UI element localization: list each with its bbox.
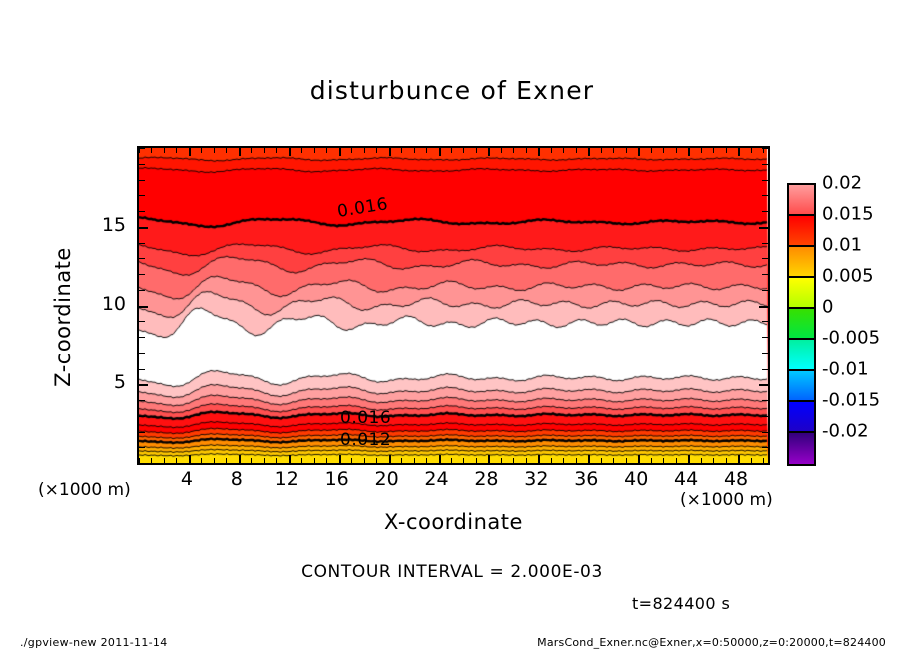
colorbar-label-0: 0.02 bbox=[822, 173, 862, 194]
x-tick bbox=[289, 148, 291, 156]
x-tick bbox=[563, 458, 564, 463]
x-tick bbox=[601, 148, 602, 153]
x-tick-label: 16 bbox=[325, 468, 349, 490]
x-tick bbox=[301, 148, 302, 153]
x-axis-title: X-coordinate bbox=[137, 510, 770, 534]
y-tick bbox=[762, 447, 768, 448]
colorbar-label-7: -0.015 bbox=[822, 390, 880, 411]
y-tick bbox=[762, 400, 768, 401]
x-tick bbox=[476, 458, 477, 463]
x-tick bbox=[439, 148, 441, 156]
x-tick bbox=[251, 458, 252, 463]
x-tick-label: 48 bbox=[724, 468, 748, 490]
y-tick bbox=[762, 274, 768, 275]
x-units-left: (×1000 m) bbox=[38, 480, 131, 500]
x-tick-label: 40 bbox=[624, 468, 648, 490]
colorbar-label-8: -0.02 bbox=[822, 421, 869, 442]
y-tick bbox=[139, 463, 145, 464]
x-tick bbox=[501, 148, 502, 153]
x-tick bbox=[239, 455, 241, 463]
x-tick bbox=[251, 148, 252, 153]
y-tick bbox=[139, 148, 145, 149]
footer-source: MarsCond_Exner.nc@Exner,x=0:50000,z=0:20… bbox=[537, 636, 886, 649]
x-tick bbox=[176, 148, 177, 153]
colorbar-label-2: 0.01 bbox=[822, 235, 862, 256]
x-tick bbox=[488, 455, 490, 463]
y-tick bbox=[139, 400, 145, 401]
x-tick bbox=[301, 458, 302, 463]
x-tick bbox=[688, 455, 690, 463]
x-tick bbox=[239, 148, 241, 156]
colorbar-band-7 bbox=[789, 402, 814, 433]
x-tick bbox=[551, 148, 552, 153]
x-tick bbox=[164, 458, 165, 463]
x-tick bbox=[638, 455, 640, 463]
x-tick bbox=[513, 148, 514, 153]
x-tick bbox=[289, 455, 291, 463]
colorbar bbox=[787, 183, 816, 466]
x-tick bbox=[439, 455, 441, 463]
x-tick bbox=[401, 458, 402, 463]
x-tick bbox=[376, 458, 377, 463]
x-tick bbox=[751, 148, 752, 153]
x-tick bbox=[151, 458, 152, 463]
y-tick bbox=[762, 369, 768, 370]
y-tick bbox=[139, 211, 145, 212]
y-tick bbox=[762, 148, 768, 149]
y-tick bbox=[139, 243, 145, 244]
x-tick bbox=[339, 148, 341, 156]
x-tick bbox=[326, 148, 327, 153]
y-tick bbox=[762, 211, 768, 212]
contour-label-mid: 0.016 bbox=[340, 408, 391, 428]
x-tick bbox=[726, 458, 727, 463]
x-tick bbox=[276, 458, 277, 463]
y-tick bbox=[762, 321, 768, 322]
x-tick bbox=[376, 148, 377, 153]
x-tick bbox=[426, 148, 427, 153]
x-tick bbox=[726, 148, 727, 153]
y-tick bbox=[139, 164, 145, 165]
x-tick bbox=[713, 458, 714, 463]
x-tick bbox=[389, 148, 391, 156]
y-tick bbox=[759, 227, 768, 229]
y-tick bbox=[139, 274, 145, 275]
x-tick bbox=[226, 458, 227, 463]
x-tick bbox=[626, 148, 627, 153]
x-tick bbox=[601, 458, 602, 463]
x-tick bbox=[351, 148, 352, 153]
y-tick bbox=[139, 195, 145, 196]
x-tick bbox=[276, 148, 277, 153]
x-tick bbox=[651, 458, 652, 463]
time-label: t=824400 s bbox=[632, 594, 730, 613]
x-tick bbox=[463, 458, 464, 463]
y-tick bbox=[139, 432, 145, 433]
contour-plot-frame bbox=[137, 146, 770, 465]
y-tick bbox=[762, 463, 768, 464]
colorbar-band-3 bbox=[789, 278, 814, 309]
x-tick bbox=[414, 148, 415, 153]
x-tick bbox=[526, 148, 527, 153]
y-tick bbox=[139, 258, 145, 259]
x-tick-label: 4 bbox=[181, 468, 193, 490]
y-tick bbox=[759, 306, 768, 308]
x-tick bbox=[701, 458, 702, 463]
y-tick bbox=[762, 164, 768, 165]
y-axis-title: Z-coordinate bbox=[51, 217, 75, 417]
x-tick bbox=[314, 458, 315, 463]
x-tick bbox=[214, 148, 215, 153]
x-tick bbox=[701, 148, 702, 153]
x-tick bbox=[264, 458, 265, 463]
y-tick bbox=[762, 353, 768, 354]
x-tick-label: 32 bbox=[524, 468, 548, 490]
colorbar-band-1 bbox=[789, 216, 814, 247]
x-tick bbox=[488, 148, 490, 156]
x-tick bbox=[189, 148, 191, 156]
x-tick bbox=[751, 458, 752, 463]
colorbar-label-6: -0.01 bbox=[822, 359, 869, 380]
x-tick bbox=[526, 458, 527, 463]
x-tick bbox=[326, 458, 327, 463]
y-tick bbox=[762, 180, 768, 181]
y-tick bbox=[139, 290, 145, 291]
x-tick bbox=[626, 458, 627, 463]
y-tick bbox=[139, 353, 145, 354]
x-tick bbox=[214, 458, 215, 463]
x-tick bbox=[576, 458, 577, 463]
colorbar-label-3: 0.005 bbox=[822, 266, 874, 287]
x-tick bbox=[551, 458, 552, 463]
x-tick bbox=[663, 148, 664, 153]
x-tick bbox=[538, 148, 540, 156]
x-tick bbox=[613, 148, 614, 153]
x-tick bbox=[588, 148, 590, 156]
y-tick bbox=[762, 195, 768, 196]
x-tick bbox=[151, 148, 152, 153]
x-tick bbox=[339, 455, 341, 463]
colorbar-label-1: 0.015 bbox=[822, 204, 874, 225]
x-tick bbox=[451, 148, 452, 153]
x-tick bbox=[451, 458, 452, 463]
x-tick bbox=[613, 458, 614, 463]
y-tick bbox=[762, 243, 768, 244]
x-tick bbox=[638, 148, 640, 156]
x-tick bbox=[538, 455, 540, 463]
x-tick bbox=[189, 455, 191, 463]
x-tick-label: 44 bbox=[674, 468, 698, 490]
y-tick bbox=[762, 416, 768, 417]
x-tick bbox=[501, 458, 502, 463]
colorbar-band-2 bbox=[789, 247, 814, 278]
page-title: disturbunce of Exner bbox=[0, 76, 904, 105]
y-tick bbox=[762, 432, 768, 433]
x-tick-label: 8 bbox=[231, 468, 243, 490]
y-tick bbox=[139, 321, 145, 322]
x-tick-label: 24 bbox=[424, 468, 448, 490]
x-tick bbox=[314, 148, 315, 153]
colorbar-label-5: -0.005 bbox=[822, 328, 880, 349]
x-tick bbox=[513, 458, 514, 463]
x-tick bbox=[563, 148, 564, 153]
y-tick bbox=[759, 384, 768, 386]
x-tick bbox=[201, 458, 202, 463]
contour-label-lower: 0.012 bbox=[340, 430, 391, 450]
x-tick bbox=[389, 455, 391, 463]
x-tick bbox=[226, 148, 227, 153]
x-tick bbox=[738, 148, 740, 156]
x-tick bbox=[364, 148, 365, 153]
y-tick bbox=[762, 258, 768, 259]
x-units-right: (×1000 m) bbox=[680, 490, 773, 510]
y-tick bbox=[762, 337, 768, 338]
footer-command: ./gpview-new 2011-11-14 bbox=[20, 636, 168, 649]
colorbar-band-0 bbox=[789, 185, 814, 216]
x-tick bbox=[201, 148, 202, 153]
y-tick bbox=[139, 384, 148, 386]
x-tick bbox=[651, 148, 652, 153]
x-tick bbox=[401, 148, 402, 153]
y-tick bbox=[762, 290, 768, 291]
x-tick bbox=[414, 458, 415, 463]
x-tick-label: 28 bbox=[474, 468, 498, 490]
x-tick bbox=[164, 148, 165, 153]
x-tick bbox=[688, 148, 690, 156]
x-tick-label: 12 bbox=[275, 468, 299, 490]
x-tick bbox=[713, 148, 714, 153]
x-tick bbox=[676, 458, 677, 463]
contour-field bbox=[139, 148, 768, 463]
x-tick bbox=[176, 458, 177, 463]
colorbar-band-5 bbox=[789, 340, 814, 371]
x-tick bbox=[351, 458, 352, 463]
colorbar-band-6 bbox=[789, 371, 814, 402]
x-tick bbox=[588, 455, 590, 463]
x-tick bbox=[663, 458, 664, 463]
x-tick bbox=[738, 455, 740, 463]
y-tick bbox=[139, 369, 145, 370]
y-tick bbox=[139, 227, 148, 229]
y-tick bbox=[139, 416, 145, 417]
x-tick bbox=[576, 148, 577, 153]
colorbar-label-4: 0 bbox=[822, 297, 833, 318]
x-tick bbox=[476, 148, 477, 153]
x-tick bbox=[426, 458, 427, 463]
x-tick bbox=[676, 148, 677, 153]
x-tick-label: 36 bbox=[574, 468, 598, 490]
y-tick bbox=[139, 180, 145, 181]
x-tick bbox=[264, 148, 265, 153]
y-tick bbox=[139, 447, 145, 448]
x-tick bbox=[364, 458, 365, 463]
colorbar-band-8 bbox=[789, 433, 814, 464]
x-tick bbox=[463, 148, 464, 153]
contour-interval-note: CONTOUR INTERVAL = 2.000E-03 bbox=[0, 562, 904, 582]
x-tick-label: 20 bbox=[375, 468, 399, 490]
y-tick bbox=[139, 337, 145, 338]
y-tick bbox=[139, 306, 148, 308]
colorbar-band-4 bbox=[789, 309, 814, 340]
